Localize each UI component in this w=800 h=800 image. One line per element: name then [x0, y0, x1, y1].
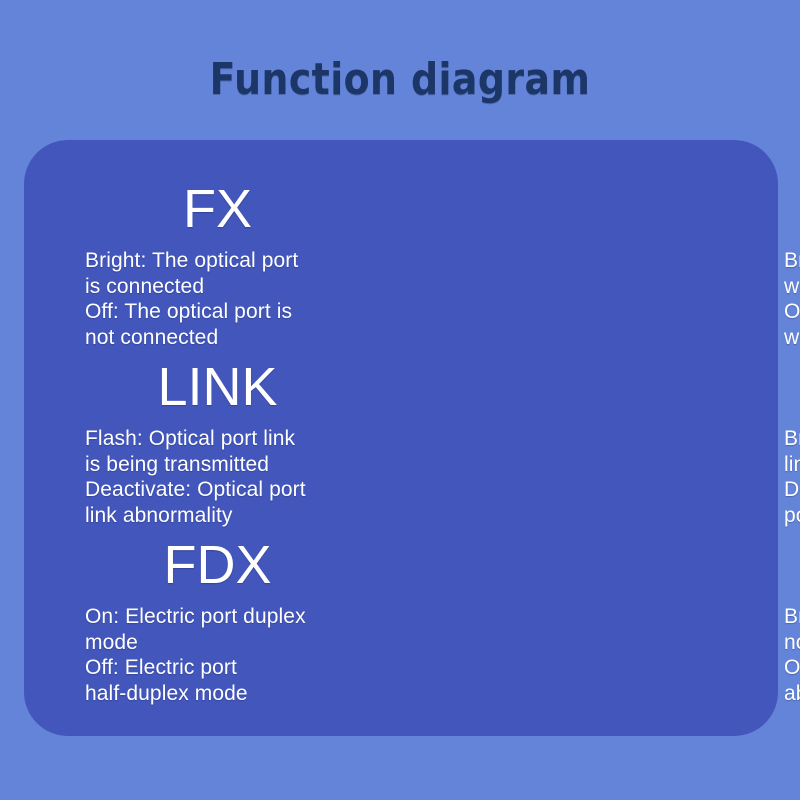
indicator-description-line: Bright: Power supply is	[784, 604, 800, 630]
indicator-description-act: Bright: The electric port link is being …	[784, 426, 800, 528]
indicator-description-line: link is being transmitted	[784, 452, 800, 478]
indicator-description-line: Deactivate: Optical port	[85, 477, 350, 503]
function-diagram-page: Function diagram FX Bright: The optical …	[0, 0, 800, 800]
indicator-block-act: ACT Bright: The electric port link is be…	[350, 360, 800, 538]
indicator-description-line: is connected	[85, 274, 350, 300]
indicator-description-line: Off: Power supply	[784, 655, 800, 681]
indicator-description-line: Bright: The electric port	[784, 426, 800, 452]
indicator-label-pwr: PWR	[784, 538, 800, 592]
indicator-description-fx: Bright: The optical port is connected Of…	[85, 248, 350, 350]
indicator-description-line: not connected	[85, 325, 350, 351]
indicator-label-tx: TX	[784, 182, 800, 236]
indicator-block-link: LINK Flash: Optical port link is being t…	[24, 360, 350, 538]
indicator-description-link: Flash: Optical port link is being transm…	[85, 426, 350, 528]
indicator-label-fdx: FDX	[85, 538, 350, 592]
indicator-label-act: ACT	[784, 360, 800, 414]
indicator-description-pwr: Bright: Power supply is normal Off: Powe…	[784, 604, 800, 706]
indicator-description-line: is being transmitted	[85, 452, 350, 478]
indicator-description-line: link abnormality	[85, 503, 350, 529]
indicator-grid: FX Bright: The optical port is connected…	[24, 140, 778, 736]
indicator-block-pwr: PWR Bright: Power supply is normal Off: …	[350, 538, 800, 716]
indicator-description-line: port link is abnormal	[784, 503, 800, 529]
indicator-description-line: On: Electric port duplex	[85, 604, 350, 630]
indicator-description-fdx: On: Electric port duplex mode Off: Elect…	[85, 604, 350, 706]
indicator-description-line: abnormality	[784, 681, 800, 707]
indicator-description-line: Off: The optical port is	[85, 299, 350, 325]
indicator-description-line: Bright: The electric port	[784, 248, 800, 274]
indicator-description-line: Flash: Optical port link	[85, 426, 350, 452]
page-title: Function diagram	[56, 54, 744, 106]
indicator-block-tx: TX Bright: The electric port works at 10…	[350, 182, 800, 360]
indicator-description-tx: Bright: The electric port works at 100M …	[784, 248, 800, 350]
indicator-description-line: Bright: The optical port	[85, 248, 350, 274]
indicator-description-line: works at 100M	[784, 274, 800, 300]
indicator-description-line: mode	[85, 630, 350, 656]
indicator-description-line: half-duplex mode	[85, 681, 350, 707]
indicator-description-line: normal	[784, 630, 800, 656]
indicator-block-fx: FX Bright: The optical port is connected…	[24, 182, 350, 360]
indicator-description-line: works at 10M	[784, 325, 800, 351]
indicator-description-line: Off: The electrical port	[784, 299, 800, 325]
indicator-description-line: Off: Electric port	[85, 655, 350, 681]
indicator-description-line: Deactivate: The electrical	[784, 477, 800, 503]
indicator-label-fx: FX	[85, 182, 350, 236]
indicator-block-fdx: FDX On: Electric port duplex mode Off: E…	[24, 538, 350, 716]
indicator-label-link: LINK	[85, 360, 350, 414]
